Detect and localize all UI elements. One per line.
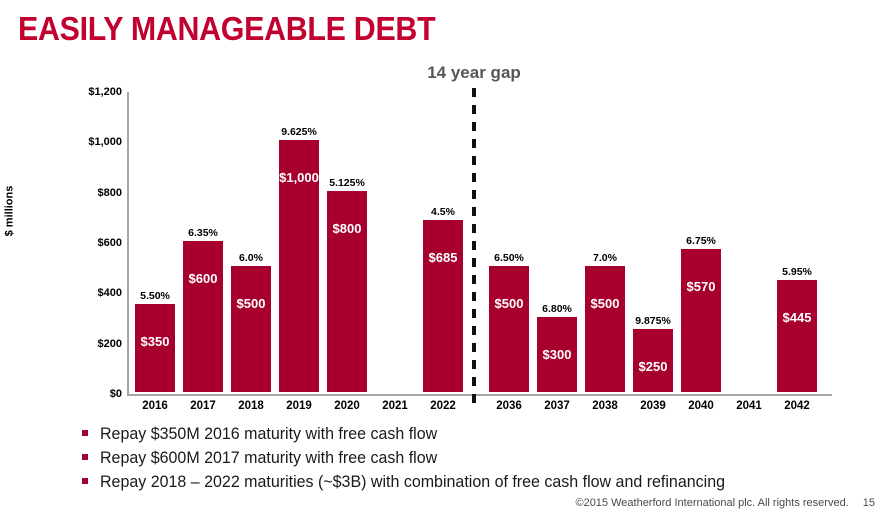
bar-group-2019: 9.625%$1,0002019 [279,55,319,394]
bar-group-2017: 6.35%$6002017 [183,55,223,394]
bullet-list: Repay $350M 2016 maturity with free cash… [82,424,842,496]
bar-group-2039: 9.875%$2502039 [633,55,673,394]
bar-2022 [423,220,463,392]
bullet-marker-icon [82,454,88,460]
copyright-text: ©2015 Weatherford International plc. All… [575,497,848,509]
bar-rate-label-2019: 9.625% [265,126,333,138]
bar-rate-label-2042: 5.95% [763,266,831,278]
y-axis-tick-label: $1,000 [64,136,122,148]
bar-group-2036: 6.50%$5002036 [489,55,529,394]
debt-maturity-bar-chart: $ millions $1,200$1,000$800$600$400$200$… [0,55,883,420]
bar-rate-label-2020: 5.125% [313,177,381,189]
bullet-text: Repay 2018 – 2022 maturities (~$3B) with… [100,472,725,493]
x-axis-tick-label-2042: 2042 [767,400,827,412]
bar-group-2022: 4.5%$6852022 [423,55,463,394]
footer: ©2015 Weatherford International plc. All… [575,497,875,509]
bullet-text: Repay $600M 2017 maturity with free cash… [100,448,437,469]
bullet-marker-icon [82,430,88,436]
bar-2018 [231,266,271,392]
bar-value-label-2020: $800 [321,221,373,236]
bar-2036 [489,266,529,392]
x-axis-tick-label-2022: 2022 [413,400,473,412]
bar-value-label-2017: $600 [177,271,229,286]
y-axis-tick-label: $400 [64,287,122,299]
bar-group-2040: 6.75%$5702040 [681,55,721,394]
bar-group-2016: 5.50%$3502016 [135,55,175,394]
gap-divider-dashed-line [472,88,476,410]
bar-group-2041: 2041 [729,55,769,394]
bar-rate-label-2017: 6.35% [169,227,237,239]
bar-group-2038: 7.0%$5002038 [585,55,625,394]
page-title: EASILY MANAGEABLE DEBT [18,10,435,48]
y-axis-tick-label: $800 [64,187,122,199]
bar-value-label-2016: $350 [129,334,181,349]
bar-value-label-2040: $570 [675,279,727,294]
page-number: 15 [863,497,875,509]
y-axis-tick-label: $200 [64,338,122,350]
bar-2040 [681,249,721,392]
bar-2042 [777,280,817,392]
bar-rate-label-2016: 5.50% [121,290,189,302]
bullet-text: Repay $350M 2016 maturity with free cash… [100,424,437,445]
bar-value-label-2039: $250 [627,359,679,374]
bar-rate-label-2038: 7.0% [571,252,639,264]
bar-group-2037: 6.80%$3002037 [537,55,577,394]
bar-value-label-2037: $300 [531,347,583,362]
bar-group-2018: 6.0%$5002018 [231,55,271,394]
bullet-item: Repay $600M 2017 maturity with free cash… [82,448,842,469]
y-axis-title: $ millions [3,186,15,237]
bar-group-2020: 5.125%$8002020 [327,55,367,394]
bar-value-label-2022: $685 [417,250,469,265]
y-axis-tick-label: $0 [64,388,122,400]
bullet-item: Repay 2018 – 2022 maturities (~$3B) with… [82,472,842,493]
bar-rate-label-2039: 9.875% [619,315,687,327]
bar-rate-label-2036: 6.50% [475,252,543,264]
bar-rate-label-2018: 6.0% [217,252,285,264]
y-axis-tick-label: $1,200 [64,86,122,98]
bullet-marker-icon [82,478,88,484]
bar-2038 [585,266,625,392]
bar-value-label-2018: $500 [225,296,277,311]
bar-group-2021: 2021 [375,55,415,394]
plot-area: 5.50%$35020166.35%$60020176.0%$50020189.… [129,55,832,396]
gap-annotation-label: 14 year gap [386,63,562,83]
bar-value-label-2042: $445 [771,310,823,325]
bullet-item: Repay $350M 2016 maturity with free cash… [82,424,842,445]
bar-rate-label-2040: 6.75% [667,235,735,247]
bar-rate-label-2022: 4.5% [409,206,477,218]
y-axis-tick-labels: $1,200$1,000$800$600$400$200$0 [60,55,122,396]
y-axis-tick-label: $600 [64,237,122,249]
bar-value-label-2038: $500 [579,296,631,311]
bar-group-2042: 5.95%$4452042 [777,55,817,394]
